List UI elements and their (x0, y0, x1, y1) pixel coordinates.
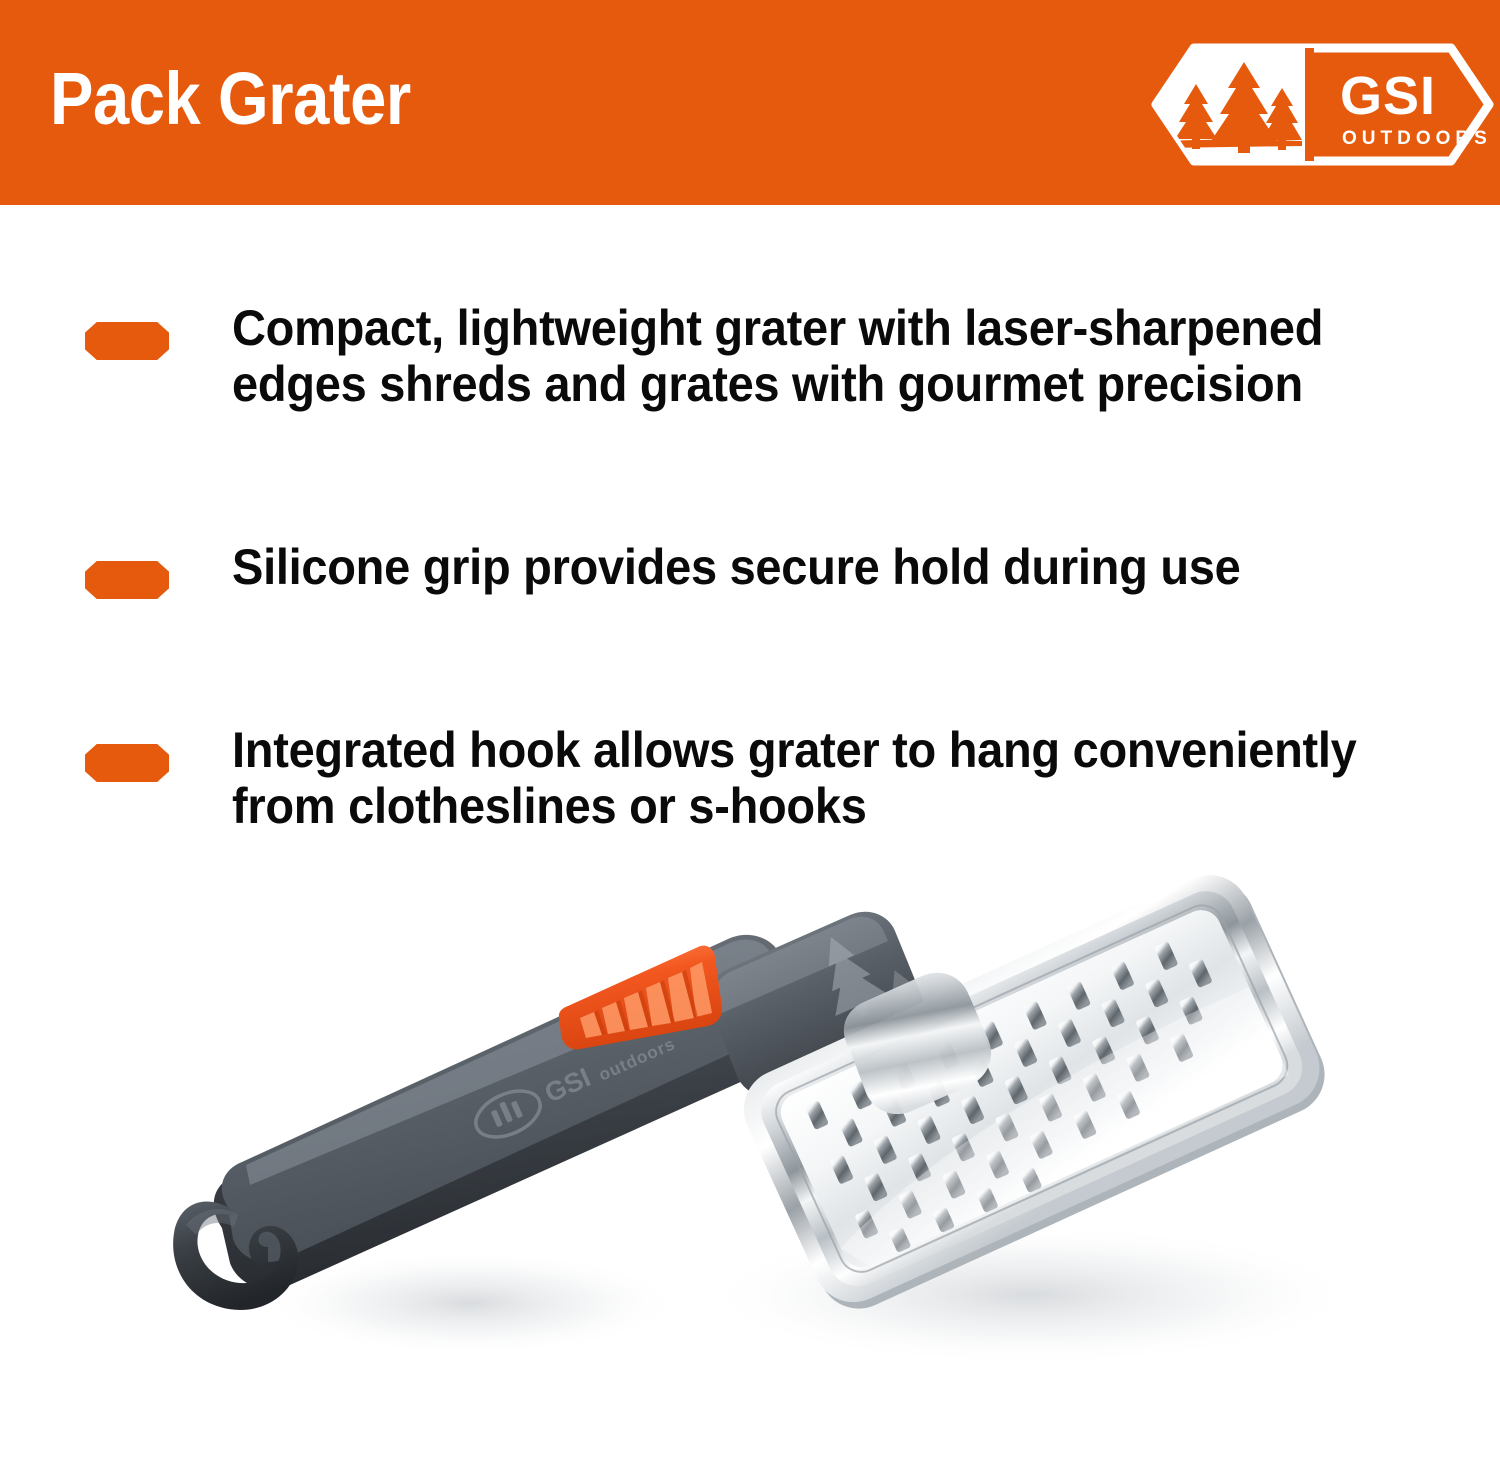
logo-svg: GSI OUTDOORS (1150, 42, 1495, 167)
page-title: Pack Grater (50, 62, 411, 136)
hexagon-bullet-icon (85, 561, 169, 599)
pack-grater-product-photo: GSI outdoors (150, 855, 1420, 1435)
feature-bullet-list: Compact, lightweight grater with laser-s… (0, 300, 1500, 584)
feature-bullet-text: Integrated hook allows grater to hang co… (232, 722, 1386, 834)
feature-bullet-text: Compact, lightweight grater with laser-s… (232, 300, 1386, 412)
feature-bullet-item: Compact, lightweight grater with laser-s… (0, 300, 1500, 412)
blade-shadow (700, 1225, 1360, 1365)
hexagon-bullet-icon (85, 322, 169, 360)
hexagon-bullet-icon (85, 744, 169, 782)
feature-bullet-item: Silicone grip provides secure hold durin… (0, 539, 1500, 599)
logo-tagline-text: OUTDOORS (1342, 128, 1492, 149)
header-band: Pack Grater (0, 0, 1500, 205)
feature-bullet-item: Integrated hook allows grater to hang co… (0, 722, 1500, 834)
logo-brand-text: GSI (1340, 66, 1436, 126)
gsi-outdoors-logo: GSI OUTDOORS (1150, 42, 1495, 167)
product-illustration: GSI outdoors (150, 855, 1420, 1435)
feature-bullet-text: Silicone grip provides secure hold durin… (232, 539, 1386, 595)
logo-tree-panel (1150, 42, 1314, 167)
